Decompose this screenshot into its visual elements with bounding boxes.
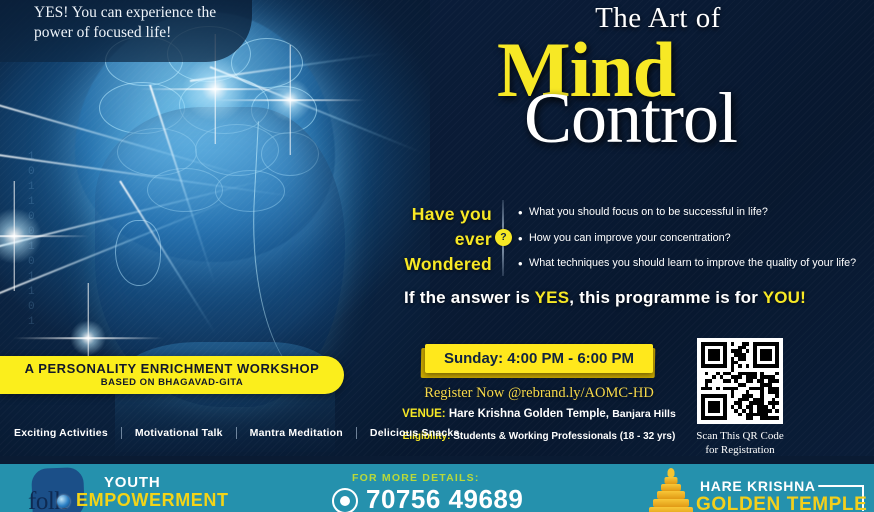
temple-name: HARE KRISHNA — [700, 478, 816, 494]
qr-section: Scan This QR Code for Registration — [686, 338, 794, 457]
temple-name-rule — [818, 485, 864, 487]
wondered-line-1: Have you — [392, 202, 492, 227]
answer-pre: If the answer is — [404, 288, 535, 307]
qr-caption-line-2: for Registration — [686, 443, 794, 457]
poster-title: The Art of Mind Control — [452, 2, 864, 162]
youth-label: YOUTH — [104, 474, 161, 491]
qr-code-matrix — [701, 342, 779, 420]
poster-root: 101100101101 YES! You can experience the… — [0, 0, 874, 512]
phone-number[interactable]: 70756 49689 — [366, 484, 523, 512]
question-list: What you should focus on to be successfu… — [518, 200, 866, 277]
empowerment-label: EMPOWERMENT — [76, 490, 229, 511]
brain-head-artwork: 101100101101 — [0, 0, 430, 464]
feature-tags: Exciting Activities Motivational Talk Ma… — [14, 427, 460, 439]
phone-icon — [332, 488, 358, 512]
wondered-heading: Have you ever Wondered — [392, 202, 492, 277]
register-link[interactable]: Register Now @rebrand.ly/AOMC-HD — [404, 385, 674, 402]
qr-code[interactable] — [697, 338, 783, 424]
workshop-banner: A PERSONALITY ENRICHMENT WORKSHOP BASED … — [0, 356, 344, 394]
workshop-subtitle: BASED ON BHAGAVAD-GITA — [0, 377, 344, 388]
venue-line: VENUE: Hare Krishna Golden Temple, Banja… — [398, 408, 680, 420]
temple-icon — [648, 468, 694, 512]
venue-label: VENUE: — [402, 408, 445, 420]
qr-caption: Scan This QR Code for Registration — [686, 429, 794, 457]
wondered-line-3: Wondered — [392, 252, 492, 277]
wondered-line-2: ever — [392, 227, 492, 252]
temple-word: GOLDEN TEMPLE — [696, 494, 867, 512]
tag-item: Motivational Talk — [122, 427, 237, 439]
eligibility-value: Students & Working Professionals (18 - 3… — [453, 431, 675, 442]
more-details-label: FOR MORE DETAILS: — [352, 472, 480, 484]
venue-value-area: Banjara Hills — [612, 408, 676, 420]
tag-item: Mantra Meditation — [237, 427, 357, 439]
answer-statement: If the answer is YES, this programme is … — [404, 288, 806, 308]
workshop-title: A PERSONALITY ENRICHMENT WORKSHOP — [0, 361, 344, 376]
tag-item: Exciting Activities — [14, 427, 122, 439]
venue-value: Hare Krishna Golden Temple, — [449, 408, 609, 420]
list-item: How you can improve your concentration? — [518, 226, 866, 252]
title-control: Control — [524, 82, 737, 154]
quote-overlay-panel: YES! You can experience the power of foc… — [0, 0, 252, 62]
question-mark-icon: ? — [495, 229, 512, 246]
list-item: What techniques you should learn to impr… — [518, 251, 866, 277]
tag-item: Delicious Snacks — [357, 427, 460, 439]
qr-caption-line-1: Scan This QR Code — [686, 429, 794, 443]
footer-bar: folk YOUTH EMPOWERMENT FOR MORE DETAILS:… — [0, 464, 874, 512]
globe-icon — [57, 495, 70, 508]
answer-you: YOU! — [763, 288, 806, 307]
list-item: What you should focus on to be successfu… — [518, 200, 866, 226]
answer-yes: YES — [535, 288, 570, 307]
quote-text: YES! You can experience the power of foc… — [34, 3, 230, 42]
time-banner: Sunday: 4:00 PM - 6:00 PM — [425, 344, 653, 373]
footer-divider-strip — [0, 456, 874, 464]
answer-mid: , this programme is for — [569, 288, 762, 307]
